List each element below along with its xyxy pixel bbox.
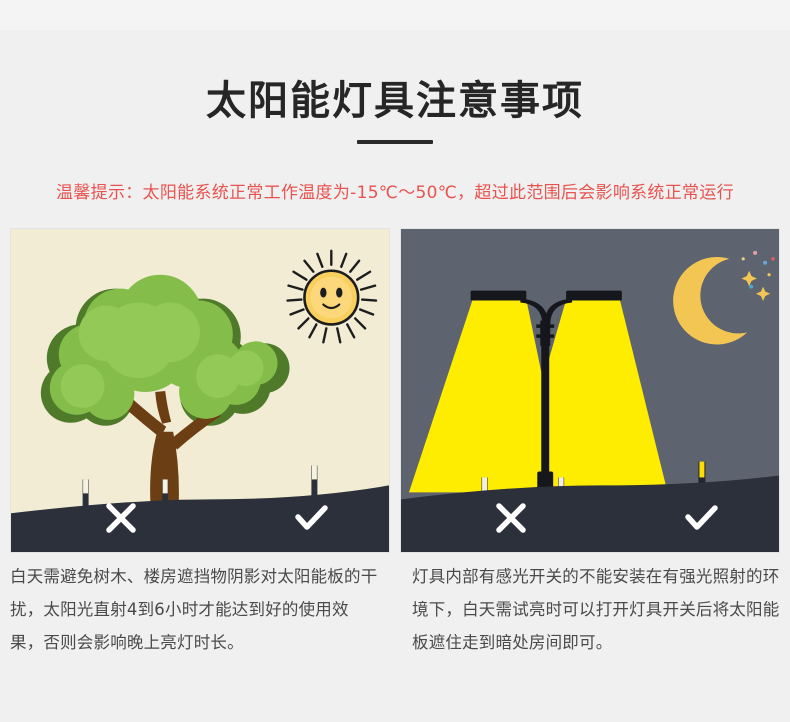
cross-icon [491, 498, 531, 538]
moon-sparkles [741, 251, 774, 301]
caption-nighttime: 灯具内部有感光开关的不能安装在有强光照射的环境下，白天需试亮时可以打开灯具开关后… [412, 560, 780, 710]
top-strip [0, 0, 790, 30]
moon-icon [673, 257, 747, 344]
sun-eye-left [320, 288, 326, 298]
check-icon [291, 498, 331, 538]
marks-row-nighttime [401, 484, 779, 552]
caption-daytime: 白天需避免树木、楼房遮挡物阴影对太阳能板的干扰，太阳光直射4到6小时才能达到好的… [10, 560, 378, 710]
light-beam [409, 300, 668, 493]
cross-icon [101, 498, 141, 538]
sun-eye-right [336, 288, 342, 298]
check-icon [681, 498, 721, 538]
title-underline [357, 140, 433, 144]
panel-daytime [10, 228, 390, 553]
page-title-block: 太阳能灯具注意事项 [0, 78, 790, 144]
captions-row: 白天需避免树木、楼房遮挡物阴影对太阳能板的干扰，太阳光直射4到6小时才能达到好的… [10, 560, 780, 710]
panel-nighttime [400, 228, 780, 553]
warning-tip-text: 温馨提示：太阳能系统正常工作温度为-15℃～50℃，超过此范围后会影响系统正常运… [0, 178, 790, 203]
page-root: 太阳能灯具注意事项 温馨提示：太阳能系统正常工作温度为-15℃～50℃，超过此范… [0, 0, 790, 722]
marks-row-daytime [11, 484, 389, 552]
illustration-panels [10, 228, 780, 553]
page-title: 太阳能灯具注意事项 [0, 78, 790, 124]
